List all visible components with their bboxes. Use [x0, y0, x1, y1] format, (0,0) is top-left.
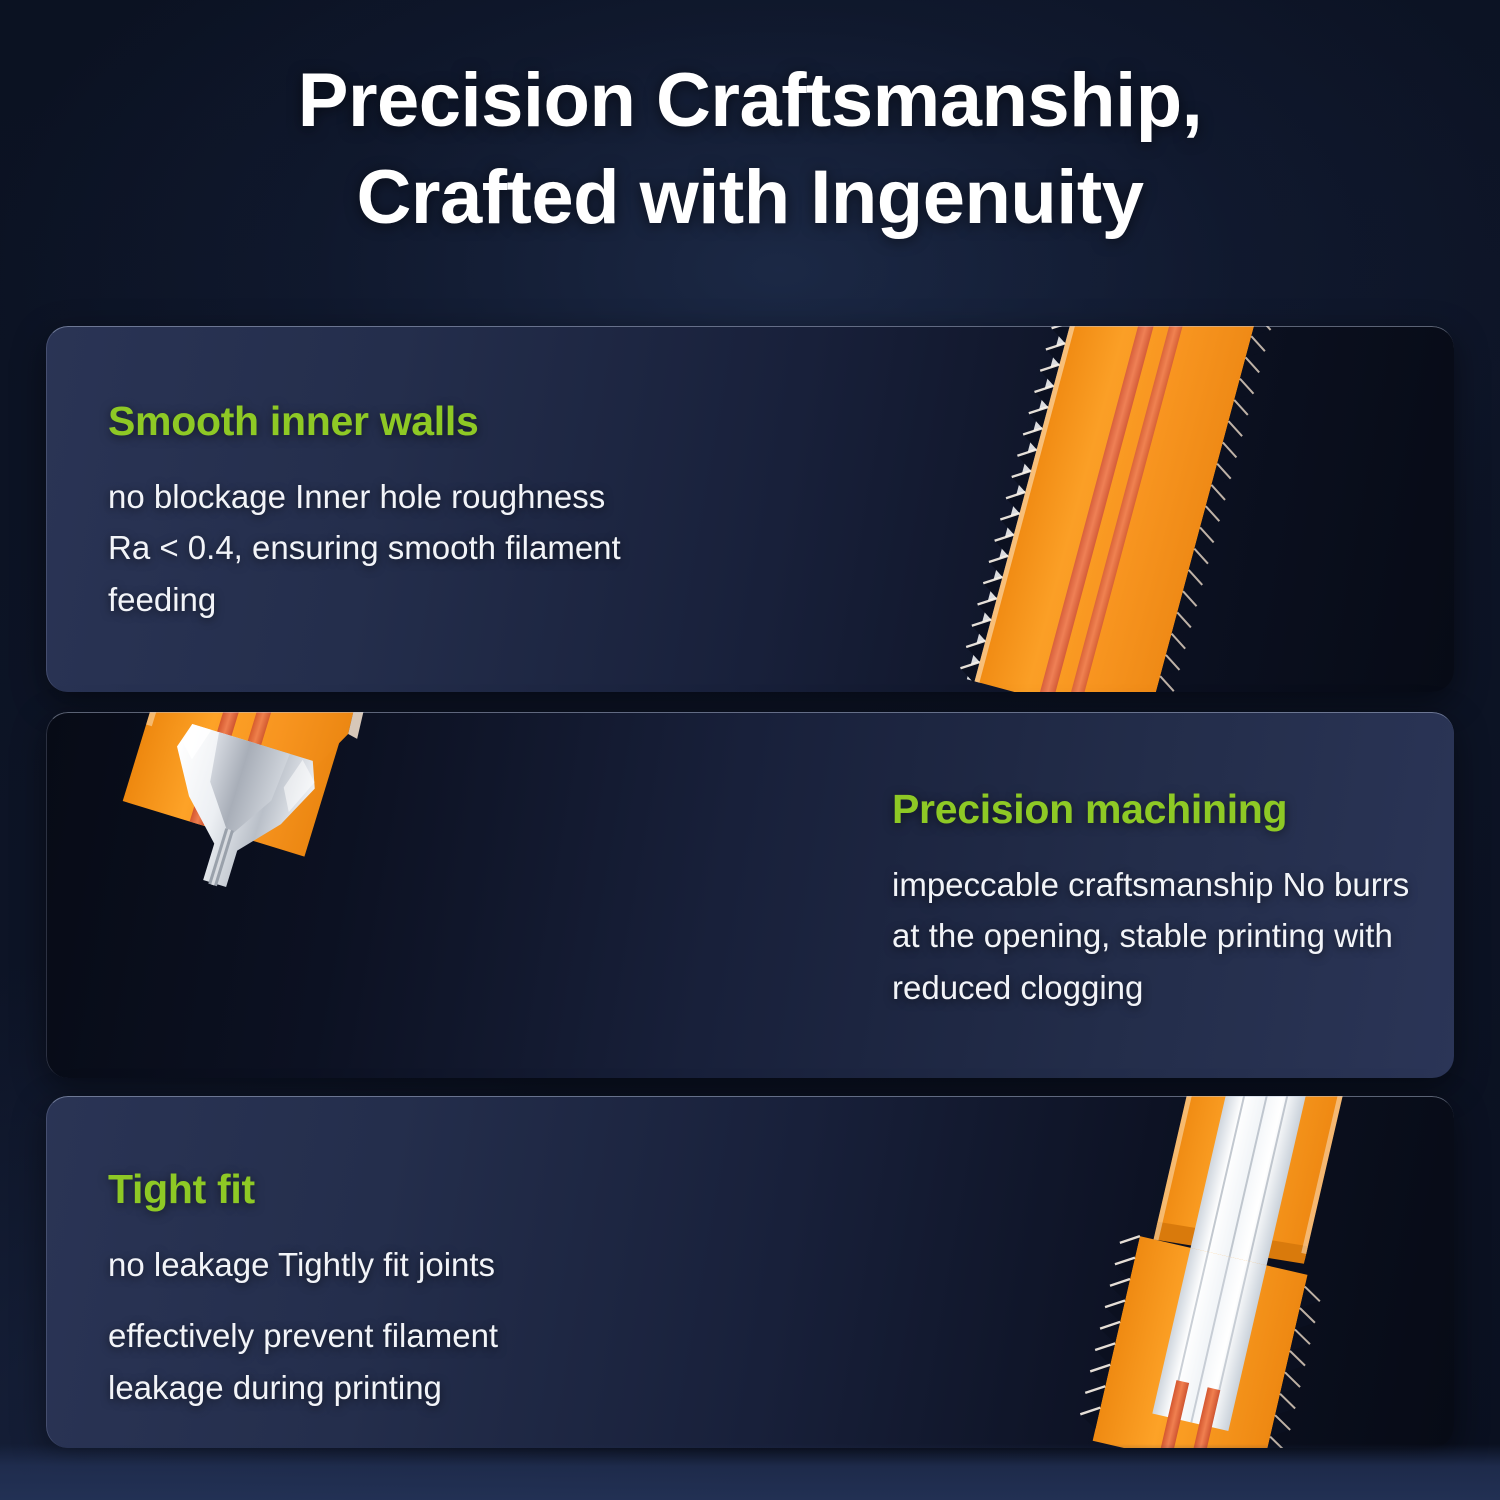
feature-body-line: no blockage Inner hole roughness — [108, 471, 728, 522]
feature-heading: Smooth inner walls — [108, 398, 728, 445]
feature-body-line: leakage during printing — [108, 1362, 728, 1413]
feature-body-line: feeding — [108, 574, 728, 625]
feature-heading: Precision machining — [892, 786, 1454, 833]
feature-heading: Tight fit — [108, 1166, 728, 1213]
bottom-gradient-band — [0, 1444, 1500, 1500]
nozzle-tip-closeup-image — [46, 712, 526, 1078]
feature-card-smooth-inner-walls: Smooth inner walls no blockage Inner hol… — [46, 326, 1454, 692]
feature-body: no blockage Inner hole roughness Ra < 0.… — [108, 471, 728, 625]
feature-body-line: at the opening, stable printing with — [892, 910, 1454, 961]
page-title: Precision Craftsmanship, Crafted with In… — [0, 52, 1500, 247]
feature-copy-smooth-inner-walls: Smooth inner walls no blockage Inner hol… — [108, 398, 728, 625]
feature-body-line: no leakage Tightly fit joints — [108, 1239, 728, 1290]
product-feature-page: Precision Craftsmanship, Crafted with In… — [0, 0, 1500, 1500]
feature-body-line: impeccable craftsmanship No burrs — [892, 859, 1454, 910]
feature-body-line: effectively prevent filament — [108, 1310, 728, 1361]
title-line-2: Crafted with Ingenuity — [0, 149, 1500, 246]
feature-card-tight-fit: Tight fit no leakage Tightly fit joints … — [46, 1096, 1454, 1448]
nozzle-throat-joint-image — [894, 1096, 1454, 1448]
feature-copy-tight-fit: Tight fit no leakage Tightly fit joints … — [108, 1166, 728, 1413]
feature-copy-precision-machining: Precision machining impeccable craftsman… — [892, 786, 1454, 1013]
feature-body-line: reduced clogging — [892, 962, 1454, 1013]
feature-card-precision-machining: Precision machining impeccable craftsman… — [46, 712, 1454, 1078]
feature-body: no leakage Tightly fit joints effectivel… — [108, 1239, 728, 1413]
threaded-nozzle-shaft-diagonal-image — [894, 326, 1454, 692]
feature-body: impeccable craftsmanship No burrs at the… — [892, 859, 1454, 1013]
feature-body-line: Ra < 0.4, ensuring smooth filament — [108, 522, 728, 573]
title-line-1: Precision Craftsmanship, — [298, 58, 1203, 143]
